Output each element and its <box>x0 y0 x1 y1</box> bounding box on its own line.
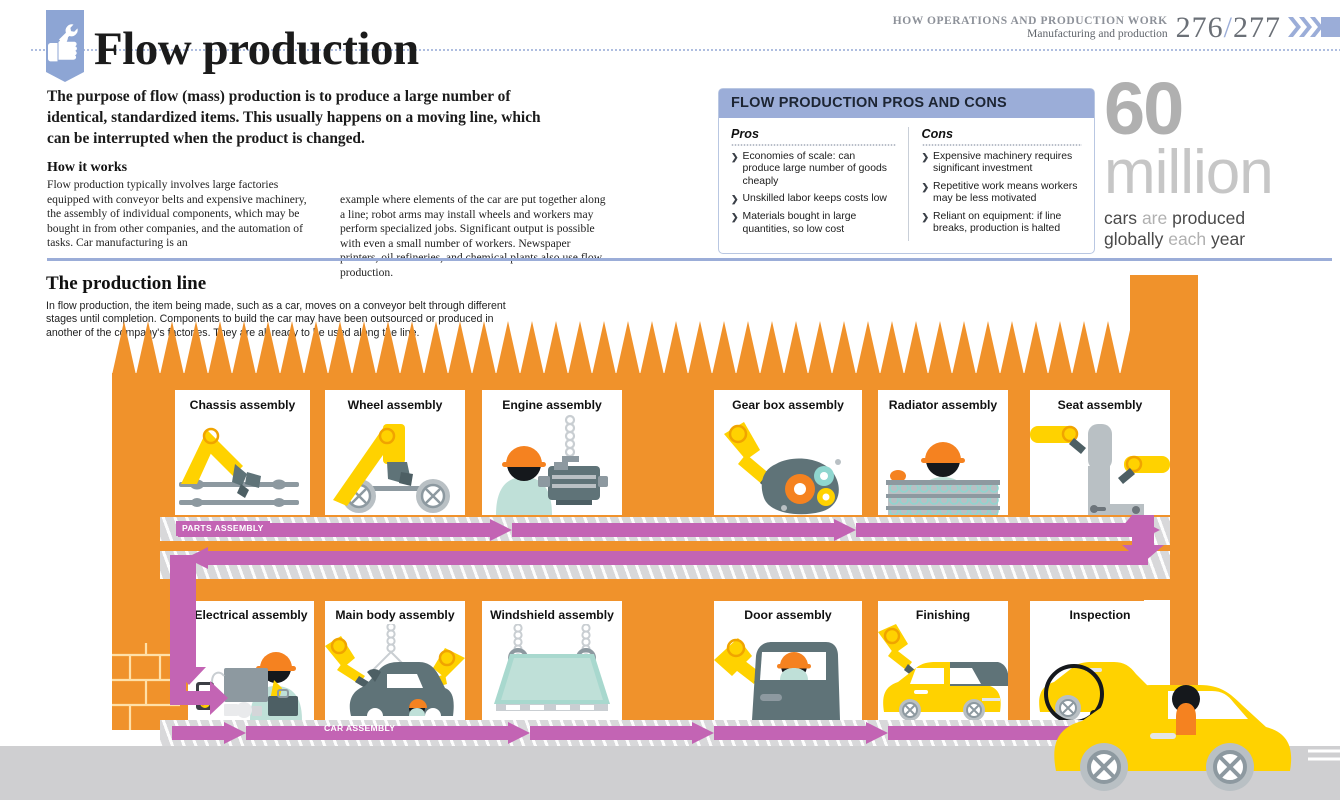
belt-uturn-connector <box>152 555 272 775</box>
cons-column: Cons ❯Expensive machinery requires signi… <box>908 127 1085 241</box>
station-wheel-assembly[interactable]: Wheel assembly <box>325 390 465 515</box>
statistic-caption-part: year <box>1211 229 1245 249</box>
header-kicker: HOW OPERATIONS AND PRODUCTION WORK <box>893 15 1168 28</box>
station-label: Door assembly <box>714 608 862 623</box>
belt-label-car-assembly: CAR ASSEMBLY <box>318 721 401 736</box>
page-header: HOW OPERATIONS AND PRODUCTION WORK Manuf… <box>870 12 1340 44</box>
statistic-block: 60 million cars are produced globally ea… <box>1104 78 1340 250</box>
chevron-right-icon: ❯ <box>731 151 739 188</box>
pros-and-cons-title: FLOW PRODUCTION PROS AND CONS <box>719 89 1094 118</box>
station-chassis-assembly[interactable]: Chassis assembly <box>175 390 310 515</box>
station-label: Seat assembly <box>1030 398 1170 413</box>
cons-divider <box>922 144 1083 146</box>
station-label: Finishing <box>878 608 1008 623</box>
worker-radiator-icon <box>878 414 1008 515</box>
statistic-caption-part: each <box>1168 229 1211 249</box>
header-subtitle: Manufacturing and production <box>893 28 1168 41</box>
pros-list-item: ❯Materials bought in large quantities, s… <box>731 211 896 236</box>
robot-arms-seat-icon <box>1030 414 1170 515</box>
chevron-double-right-icon <box>1288 14 1340 40</box>
cons-list-item: ❯Reliant on equipment: if line breaks, p… <box>922 211 1083 236</box>
cons-item-text: Expensive machinery requires significant… <box>933 151 1082 176</box>
station-label: Main body assembly <box>325 608 465 623</box>
statistic-caption: cars are produced globally each year <box>1104 208 1340 250</box>
chevron-right-icon: ❯ <box>731 193 739 206</box>
pros-and-cons-box: FLOW PRODUCTION PROS AND CONS Pros ❯Econ… <box>718 88 1095 254</box>
statistic-number: 60 <box>1104 78 1340 140</box>
factory-diagram: Chassis assembly Wh <box>0 255 1340 800</box>
station-seat-assembly[interactable]: Seat assembly <box>1030 390 1170 515</box>
wrench-hand-icon <box>46 10 84 82</box>
station-finishing[interactable]: Finishing <box>878 600 1008 735</box>
chevron-right-icon: ❯ <box>922 181 930 206</box>
cons-list-item: ❯Repetitive work means workers may be le… <box>922 181 1083 206</box>
station-radiator-assembly[interactable]: Radiator assembly <box>878 390 1008 515</box>
worker-engine-hoist-icon <box>482 414 622 515</box>
pros-item-text: Materials bought in large quantities, so… <box>743 211 896 236</box>
station-label: Gear box assembly <box>714 398 862 413</box>
pros-item-text: Economies of scale: can produce large nu… <box>743 151 896 188</box>
robot-arm-wheels-icon <box>325 414 465 515</box>
statistic-caption-part: are <box>1142 208 1172 228</box>
how-it-works-heading: How it works <box>47 160 612 176</box>
station-door-assembly[interactable]: Door assembly <box>714 600 862 735</box>
robot-arm-gearbox-icon <box>714 414 862 515</box>
station-label: Engine assembly <box>482 398 622 413</box>
pros-list-item: ❯Unskilled labor keeps costs low <box>731 193 896 206</box>
cons-item-text: Reliant on equipment: if line breaks, pr… <box>933 211 1082 236</box>
header-text-block: HOW OPERATIONS AND PRODUCTION WORK Manuf… <box>893 15 1176 41</box>
cons-list-item: ❯Expensive machinery requires significan… <box>922 151 1083 176</box>
infographic-page: HOW OPERATIONS AND PRODUCTION WORK Manuf… <box>0 0 1340 800</box>
station-main-body-assembly[interactable]: Main body assembly <box>325 600 465 735</box>
pros-divider <box>731 144 896 146</box>
station-label: Chassis assembly <box>175 398 310 413</box>
pros-heading: Pros <box>731 127 896 141</box>
statistic-caption-part: produced <box>1172 208 1245 228</box>
station-engine-assembly[interactable]: Engine assembly <box>482 390 622 515</box>
cons-heading: Cons <box>922 127 1083 141</box>
chevron-right-icon: ❯ <box>731 211 739 236</box>
page-numbers: 276/277 <box>1176 12 1281 44</box>
station-label: Inspection <box>1030 608 1170 623</box>
finished-car-icon <box>1040 655 1340 795</box>
statistic-caption-part: cars <box>1104 208 1142 228</box>
belt-label-parts-assembly: PARTS ASSEMBLY <box>176 521 270 536</box>
chevron-right-icon: ❯ <box>922 151 930 176</box>
statistic-caption-part: globally <box>1104 229 1168 249</box>
pros-and-cons-body: Pros ❯Economies of scale: can produce la… <box>719 118 1094 253</box>
robot-arm-chassis-icon <box>175 414 310 515</box>
statistic-unit: million <box>1104 140 1340 206</box>
page-number-right: 277 <box>1233 11 1281 44</box>
pros-column: Pros ❯Economies of scale: can produce la… <box>731 127 908 241</box>
station-label: Windshield assembly <box>482 608 622 623</box>
page-number-separator: / <box>1224 11 1233 44</box>
station-label: Wheel assembly <box>325 398 465 413</box>
chevron-right-icon: ❯ <box>922 211 930 236</box>
station-gear-box-assembly[interactable]: Gear box assembly <box>714 390 862 515</box>
station-label: Radiator assembly <box>878 398 1008 413</box>
pros-list-item: ❯Economies of scale: can produce large n… <box>731 151 896 188</box>
parts-assembly-arrows <box>160 515 1220 547</box>
intro-paragraph: The purpose of flow (mass) production is… <box>47 86 547 149</box>
cons-item-text: Repetitive work means workers may be les… <box>933 181 1082 206</box>
page-title: Flow production <box>94 22 419 76</box>
pros-item-text: Unskilled labor keeps costs low <box>743 193 887 206</box>
page-number-left: 276 <box>1176 11 1224 44</box>
station-windshield-assembly[interactable]: Windshield assembly <box>482 600 622 735</box>
